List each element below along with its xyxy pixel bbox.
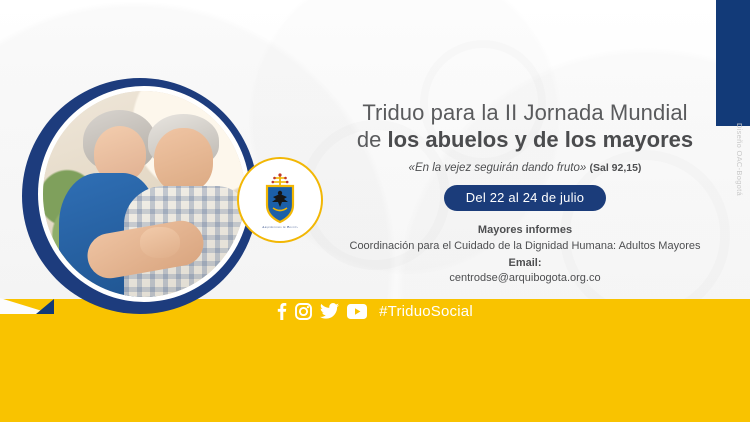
- title-line-2-light: de: [357, 127, 388, 152]
- photo-circle: [22, 78, 258, 314]
- info-block: Mayores informes Coordinación para el Cu…: [325, 223, 725, 286]
- info-coordination-line: Coordinación para el Cuidado de la Digni…: [325, 239, 725, 255]
- subtitle: «En la vejez seguirán dando fruto» (Sal …: [325, 162, 725, 174]
- twitter-icon[interactable]: [320, 303, 339, 319]
- social-row: #TriduoSocial: [0, 302, 750, 320]
- subtitle-reference: (Sal 92,15): [589, 162, 641, 174]
- facebook-icon[interactable]: [277, 302, 287, 320]
- photo-man-face: [154, 128, 213, 192]
- title-line-2-bold: los abuelos y de los mayores: [387, 127, 693, 152]
- info-email-label: Email:: [325, 256, 725, 272]
- photo-hand: [140, 227, 180, 258]
- poster-canvas: Arquidiócesis de Bogotá Triduo para la I…: [0, 0, 750, 422]
- info-email-value: centrodse@arquibogota.org.co: [325, 271, 725, 287]
- title-line-1: Triduo para la II Jornada Mundial: [325, 100, 725, 126]
- text-content: Triduo para la II Jornada Mundial de los…: [325, 100, 725, 287]
- youtube-icon[interactable]: [347, 304, 367, 319]
- subtitle-quote: «En la vejez seguirán dando fruto»: [409, 162, 587, 174]
- instagram-icon[interactable]: [295, 303, 312, 320]
- emblem-caption: Arquidiócesis de Bogotá: [262, 225, 298, 229]
- title-line-2: de los abuelos y de los mayores: [325, 127, 725, 153]
- elderly-couple-photo: [43, 91, 245, 297]
- design-credit: Diseño OAC-Bogotá: [735, 123, 744, 196]
- date-badge: Del 22 al 24 de julio: [444, 185, 606, 211]
- social-hashtag: #TriduoSocial: [379, 303, 473, 320]
- info-heading: Mayores informes: [325, 223, 725, 239]
- archdiocese-emblem: Arquidiócesis de Bogotá: [237, 157, 323, 243]
- coat-of-arms-icon: [260, 172, 300, 224]
